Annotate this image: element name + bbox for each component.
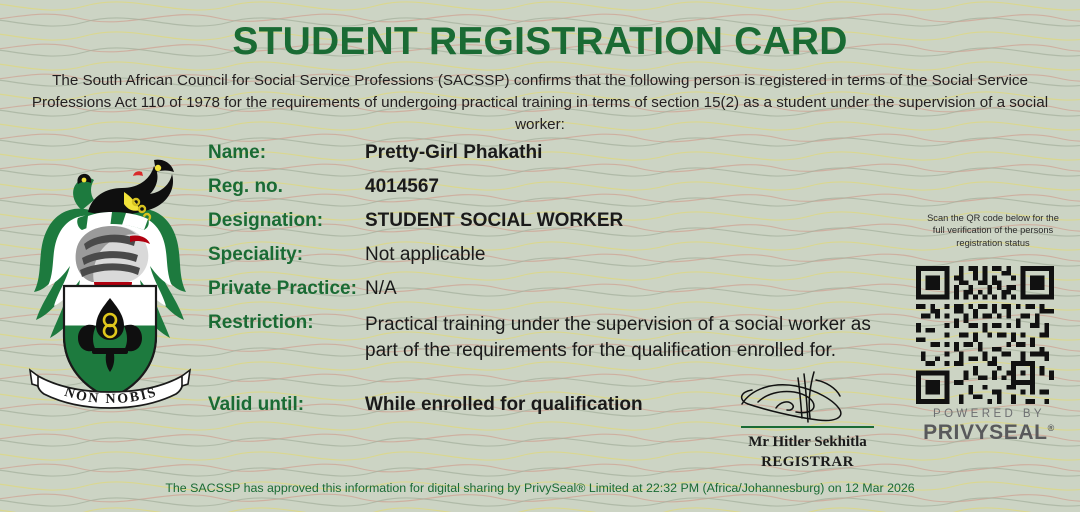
- value-speciality: Not applicable: [365, 244, 485, 266]
- field-row-restriction: Restriction: Practical training under th…: [208, 312, 908, 374]
- label-private-practice: Private Practice:: [208, 278, 357, 300]
- page-title: STUDENT REGISTRATION CARD: [0, 20, 1080, 64]
- registrar-role: REGISTRAR: [700, 454, 915, 471]
- field-row-speciality: Speciality: Not applicable: [208, 244, 908, 278]
- value-reg-no: 4014567: [365, 176, 439, 198]
- intro-paragraph: The South African Council for Social Ser…: [30, 70, 1050, 136]
- label-speciality: Speciality:: [208, 244, 303, 266]
- label-restriction: Restriction:: [208, 312, 314, 334]
- value-designation: STUDENT SOCIAL WORKER: [365, 210, 623, 232]
- value-private-practice: N/A: [365, 278, 397, 300]
- brand-name-text: PRIVYSEAL: [923, 421, 1047, 444]
- field-row-name: Name: Pretty-Girl Phakathi: [208, 142, 908, 176]
- sacssp-coat-of-arms-icon: NON NOBIS: [22, 140, 198, 412]
- value-valid-until: While enrolled for qualification: [365, 394, 643, 416]
- qr-instruction-text: Scan the QR code below for the full veri…: [920, 212, 1066, 249]
- field-row-reg-no: Reg. no. 4014567: [208, 176, 908, 210]
- value-restriction: Practical training under the supervision…: [365, 312, 905, 364]
- label-designation: Designation:: [208, 210, 323, 232]
- registrar-signature-icon: [718, 368, 898, 426]
- brand-powered-by-label: POWERED BY: [916, 408, 1062, 420]
- brand-name: PRIVYSEAL®: [916, 421, 1062, 445]
- approval-footer: The SACSSP has approved this information…: [0, 481, 1080, 495]
- label-valid-until: Valid until:: [208, 394, 304, 416]
- student-registration-card: STUDENT REGISTRATION CARD The South Afri…: [0, 0, 1080, 512]
- label-name: Name:: [208, 142, 266, 164]
- label-reg-no: Reg. no.: [208, 176, 283, 198]
- field-row-designation: Designation: STUDENT SOCIAL WORKER: [208, 210, 908, 244]
- brand-trademark-symbol: ®: [1048, 423, 1055, 433]
- value-name: Pretty-Girl Phakathi: [365, 142, 542, 164]
- signature-block: Mr Hitler Sekhitla REGISTRAR: [700, 368, 915, 471]
- signature-line: [741, 426, 874, 428]
- registrar-name: Mr Hitler Sekhitla: [700, 434, 915, 451]
- verification-qr-code[interactable]: [916, 266, 1054, 404]
- privyseal-brand: POWERED BY PRIVYSEAL®: [916, 408, 1062, 445]
- field-row-private-practice: Private Practice: N/A: [208, 278, 908, 312]
